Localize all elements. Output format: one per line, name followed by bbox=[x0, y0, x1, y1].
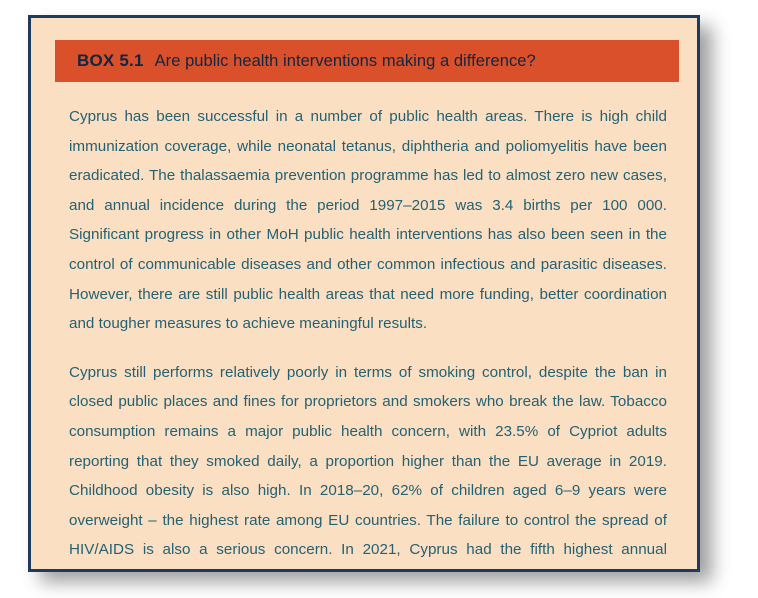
callout-box-header: BOX 5.1 Are public health interventions … bbox=[55, 40, 679, 82]
callout-box-body: Cyprus has been successful in a number o… bbox=[69, 102, 667, 572]
body-paragraph-1: Cyprus has been successful in a number o… bbox=[69, 102, 667, 339]
body-paragraph-2: Cyprus still performs relatively poorly … bbox=[69, 358, 667, 572]
callout-box: BOX 5.1 Are public health interventions … bbox=[28, 15, 700, 572]
page-canvas: BOX 5.1 Are public health interventions … bbox=[0, 0, 758, 598]
box-title: Are public health interventions making a… bbox=[155, 52, 536, 71]
box-number-label: BOX 5.1 bbox=[77, 51, 144, 71]
